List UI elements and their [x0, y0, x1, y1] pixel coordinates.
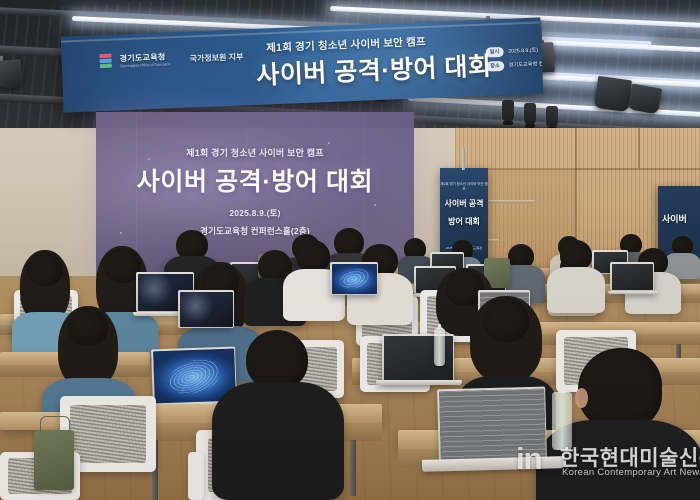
banner-date-label: 일시 — [485, 47, 503, 57]
banner-organizer-logos: 경기도교육청 Gyeonggido Office of Education — [99, 51, 170, 69]
education-office-logo-icon — [99, 54, 112, 69]
banner-org-secondary: 국가정보원 지부 — [189, 51, 243, 64]
speaker — [628, 84, 662, 115]
speaker — [0, 59, 23, 89]
screen-title: 사이버 공격·방어 대회 — [96, 162, 414, 198]
banner-info-row: 장소 경기도교육청 컨퍼런스홀(2층) — [486, 58, 543, 71]
stage-light — [502, 100, 514, 122]
banner-org-primary: 경기도교육청 Gyeonggido Office of Education — [119, 51, 170, 68]
banner-info-row: 일시 2025.8.9.(토) — [485, 44, 543, 57]
side-banner-subtitle: 제1회 경기 청소년 사이버 보안 캠프 — [440, 182, 488, 192]
far-right-banner-title: 사이버 — [662, 212, 700, 225]
stage-light — [524, 103, 536, 125]
stage-light — [546, 106, 558, 128]
side-banner-title-2: 방어 대회 — [440, 215, 488, 228]
banner-place-label: 장소 — [486, 61, 504, 71]
screen-place: 경기도교육청 컨퍼런스홀(2층) — [96, 225, 414, 237]
tote-bag — [34, 430, 74, 490]
screen-subtitle: 제1회 경기 청소년 사이버 보안 캠프 — [96, 146, 414, 159]
banner-info-block: 일시 2025.8.9.(토) 장소 경기도교육청 컨퍼런스홀(2층) — [485, 44, 543, 75]
banner-date-value: 2025.8.9.(토) — [508, 47, 538, 55]
screen-date: 2025.8.9.(토) — [96, 207, 414, 219]
water-bottle — [552, 392, 572, 450]
water-bottle — [434, 328, 445, 366]
banner-place-value: 경기도교육청 컨퍼런스홀(2층) — [509, 59, 544, 69]
side-banner-title-1: 사이버 공격 — [440, 197, 488, 210]
venue-photo: 경기도교육청 Gyeonggido Office of Education 국가… — [0, 0, 700, 500]
speaker — [594, 76, 632, 112]
